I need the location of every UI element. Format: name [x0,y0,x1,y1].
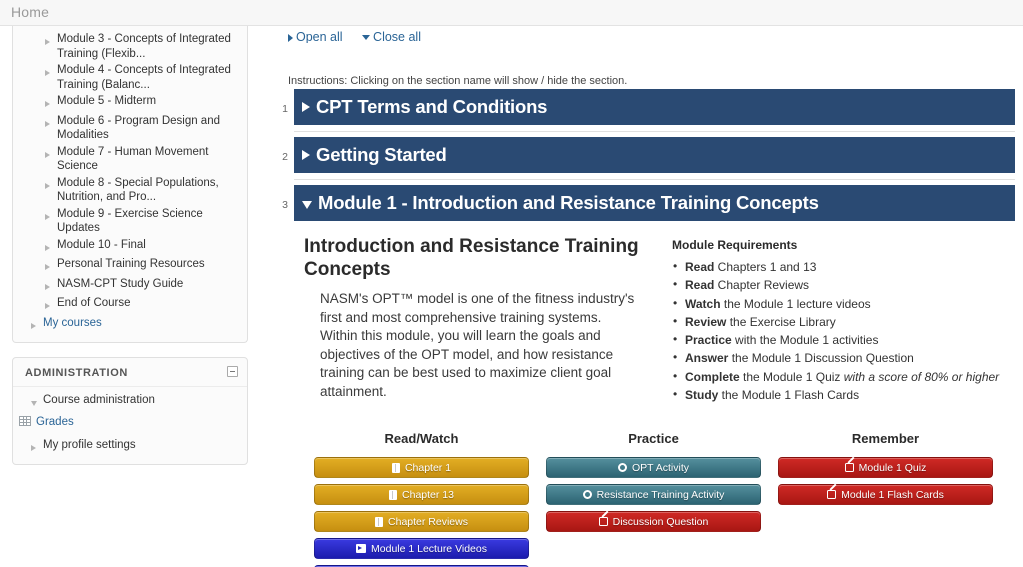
requirement-verb: Read [685,260,714,274]
sections-list: 1CPT Terms and Conditions2Getting Starte… [270,89,1015,567]
sidebar-item-label: Module 10 - Final [57,238,237,253]
sidebar-item-label: Module 7 - Human Movement Science [57,145,237,174]
column-heading: Remember [778,431,993,446]
requirement-verb: Practice [685,333,732,347]
requirement-item: Complete the Module 1 Quiz with a score … [672,370,1013,385]
section-title: CPT Terms and Conditions [316,96,547,118]
activity-button[interactable]: Module 1 Flash Cards [778,484,993,505]
chevron-right-icon [31,441,43,456]
navigation-tree: Module 3 - Concepts of Integrated Traini… [19,31,241,315]
activity-button[interactable]: Chapter 13 [314,484,529,505]
requirement-text: Chapters 1 and 13 [714,260,816,274]
chevron-right-icon [45,179,57,194]
chevron-right-icon [45,260,57,275]
column-heading: Practice [546,431,761,446]
chevron-right-icon [45,241,57,256]
module-intro-left: Introduction and Resistance Training Con… [304,235,654,406]
requirement-verb: Answer [685,351,728,365]
caret-right-icon [302,102,310,112]
navigation-list: Module 3 - Concepts of Integrated Traini… [13,26,247,342]
sidebar-item-module[interactable]: Module 5 - Midterm [19,93,241,113]
grades-label: Grades [36,414,74,430]
grades-grid-icon [19,416,31,426]
sidebar-item-label: NASM-CPT Study Guide [57,277,237,292]
pencil-icon [845,463,854,472]
sidebar-item-course-administration[interactable]: Course administration [19,392,241,412]
caret-right-icon [302,150,310,160]
requirement-verb: Study [685,388,718,402]
sidebar-item-grades[interactable]: Grades [19,412,241,432]
section-2: 2Getting Started [270,137,1015,173]
chevron-down-icon [31,396,43,411]
requirement-text: the Module 1 Quiz [740,370,844,384]
requirement-item: Watch the Module 1 lecture videos [672,297,1013,312]
column-heading: Read/Watch [314,431,529,446]
activity-button-label: Module 1 Quiz [859,462,927,474]
requirement-text: the Module 1 Flash Cards [718,388,859,402]
collapse-icon[interactable] [227,366,238,377]
sidebar-item-my-profile-settings[interactable]: My profile settings [19,437,241,457]
sidebar-item-module[interactable]: Module 8 - Special Populations, Nutritio… [19,175,241,206]
chevron-right-icon [45,299,57,314]
activity-button-label: Chapter 13 [402,489,454,501]
requirement-item: Study the Module 1 Flash Cards [672,388,1013,403]
sidebar-item-module[interactable]: Module 10 - Final [19,237,241,257]
requirements-list: Read Chapters 1 and 13Read Chapter Revie… [672,260,1013,403]
administration-header: ADMINISTRATION [13,358,247,387]
requirement-text: with the Module 1 activities [732,333,879,347]
gear-icon [583,490,592,499]
sidebar-item-label: End of Course [57,296,237,311]
requirement-text: Chapter Reviews [714,278,809,292]
requirement-text: the Module 1 lecture videos [721,297,871,311]
chevron-right-icon [31,319,43,334]
activity-button[interactable]: OPT Activity [546,457,761,478]
section-1: 1CPT Terms and Conditions [270,89,1015,125]
section-number: 2 [272,151,288,163]
sidebar-item-module[interactable]: End of Course [19,295,241,315]
activity-button[interactable]: Chapter 1 [314,457,529,478]
open-all-link[interactable]: Open all [288,30,343,43]
activity-column: Read/WatchChapter 1Chapter 13Chapter Rev… [314,431,529,567]
activity-columns: Read/WatchChapter 1Chapter 13Chapter Rev… [304,431,1013,567]
section-header-toggle[interactable]: Getting Started [294,137,1015,173]
section-divider [294,131,1015,132]
activity-button-label: Chapter Reviews [388,516,468,528]
section-title: Module 1 - Introduction and Resistance T… [318,192,819,214]
close-all-link[interactable]: Close all [362,30,421,43]
module-paragraph: NASM's OPT™ model is one of the fitness … [304,290,640,401]
module-1-body: Introduction and Resistance Training Con… [294,221,1015,567]
open-close-all-links: Open all Close all [288,30,437,43]
chevron-right-icon [45,210,57,225]
requirement-verb: Complete [685,370,740,384]
sidebar-item-label: Personal Training Resources [57,257,237,272]
section-title: Getting Started [316,144,447,166]
administration-title: ADMINISTRATION [25,367,128,379]
module-intro: Introduction and Resistance Training Con… [304,235,1013,406]
sidebar-item-module[interactable]: Module 4 - Concepts of Integrated Traini… [19,62,241,93]
book-icon [389,490,397,500]
pencil-icon [599,517,608,526]
video-icon [356,544,366,553]
activity-column: RememberModule 1 QuizModule 1 Flash Card… [778,431,993,567]
activity-button[interactable]: Module 1 Lecture Videos [314,538,529,559]
activity-button[interactable]: Discussion Question [546,511,761,532]
instructions-text: Instructions: Clicking on the section na… [288,75,627,87]
sidebar-item-module[interactable]: NASM-CPT Study Guide [19,276,241,296]
sidebar-item-label: Module 9 - Exercise Science Updates [57,207,237,236]
module-heading: Introduction and Resistance Training Con… [304,235,640,281]
sidebar: Module 3 - Concepts of Integrated Traini… [0,26,258,567]
section-divider [294,179,1015,180]
my-profile-settings-label: My profile settings [43,438,237,453]
activity-button-label: Module 1 Lecture Videos [371,543,487,555]
chevron-right-icon [45,97,57,112]
navigation-block: Module 3 - Concepts of Integrated Traini… [12,26,248,343]
book-icon [375,517,383,527]
administration-block: ADMINISTRATION Course administration Gra… [12,357,248,465]
section-number: 3 [272,199,288,211]
chevron-right-icon [45,148,57,163]
sidebar-item-module[interactable]: Module 7 - Human Movement Science [19,144,241,175]
requirement-verb: Review [685,315,726,329]
sidebar-item-module[interactable]: Module 6 - Program Design and Modalities [19,113,241,144]
requirement-item: Read Chapter Reviews [672,278,1013,293]
main-content: Open all Close all Instructions: Clickin… [270,26,1015,567]
breadcrumb[interactable]: Home [11,4,49,20]
chevron-right-icon [45,280,57,295]
section-number: 1 [272,103,288,115]
section-header-toggle[interactable]: Module 1 - Introduction and Resistance T… [294,185,1015,221]
chevron-right-icon [45,66,57,81]
caret-down-icon [302,201,312,209]
sidebar-item-module[interactable]: Module 9 - Exercise Science Updates [19,206,241,237]
page-root: Home Module 3 - Concepts of Integrated T… [0,0,1023,567]
requirement-item: Review the Exercise Library [672,315,1013,330]
requirement-note: with a score of 80% or higher [844,370,999,384]
chevron-right-icon [45,35,57,50]
sidebar-item-label: Module 8 - Special Populations, Nutritio… [57,176,237,205]
course-administration-label: Course administration [43,393,237,408]
activity-button-label: Chapter 1 [405,462,451,474]
activity-button-label: Module 1 Flash Cards [841,489,944,501]
requirement-item: Answer the Module 1 Discussion Question [672,351,1013,366]
activity-button-label: OPT Activity [632,462,689,474]
requirement-verb: Watch [685,297,721,311]
section-header-toggle[interactable]: CPT Terms and Conditions [294,89,1015,125]
requirement-text: the Exercise Library [726,315,835,329]
sidebar-item-label: Module 4 - Concepts of Integrated Traini… [57,63,237,92]
activity-button[interactable]: Chapter Reviews [314,511,529,532]
sidebar-item-module[interactable]: Personal Training Resources [19,256,241,276]
close-all-label: Close all [373,30,421,43]
my-courses-label: My courses [43,316,237,331]
book-icon [392,463,400,473]
requirement-item: Practice with the Module 1 activities [672,333,1013,348]
sidebar-item-label: Module 6 - Program Design and Modalities [57,114,237,143]
sidebar-item-label: Module 3 - Concepts of Integrated Traini… [57,32,237,61]
activity-button[interactable]: Resistance Training Activity [546,484,761,505]
open-all-label: Open all [296,30,343,43]
sidebar-item-module[interactable]: Module 3 - Concepts of Integrated Traini… [19,31,241,62]
sidebar-item-my-courses[interactable]: My courses [19,315,241,335]
pencil-icon [827,490,836,499]
requirement-verb: Read [685,278,714,292]
requirement-text: the Module 1 Discussion Question [728,351,913,365]
activity-button[interactable]: Module 1 Quiz [778,457,993,478]
sidebar-item-label: Module 5 - Midterm [57,94,237,109]
module-requirements: Module RequirementsRead Chapters 1 and 1… [654,235,1013,406]
activity-column: PracticeOPT ActivityResistance Training … [546,431,761,567]
requirement-item: Read Chapters 1 and 13 [672,260,1013,275]
chevron-right-icon [45,117,57,132]
administration-body: Course administration Grades My profile … [13,387,247,464]
activity-button-label: Discussion Question [613,516,709,528]
section-3: 3Module 1 - Introduction and Resistance … [270,185,1015,567]
top-bar: Home [0,0,1023,26]
activity-button-label: Resistance Training Activity [597,489,725,501]
gear-icon [618,463,627,472]
requirements-heading: Module Requirements [672,238,1013,252]
